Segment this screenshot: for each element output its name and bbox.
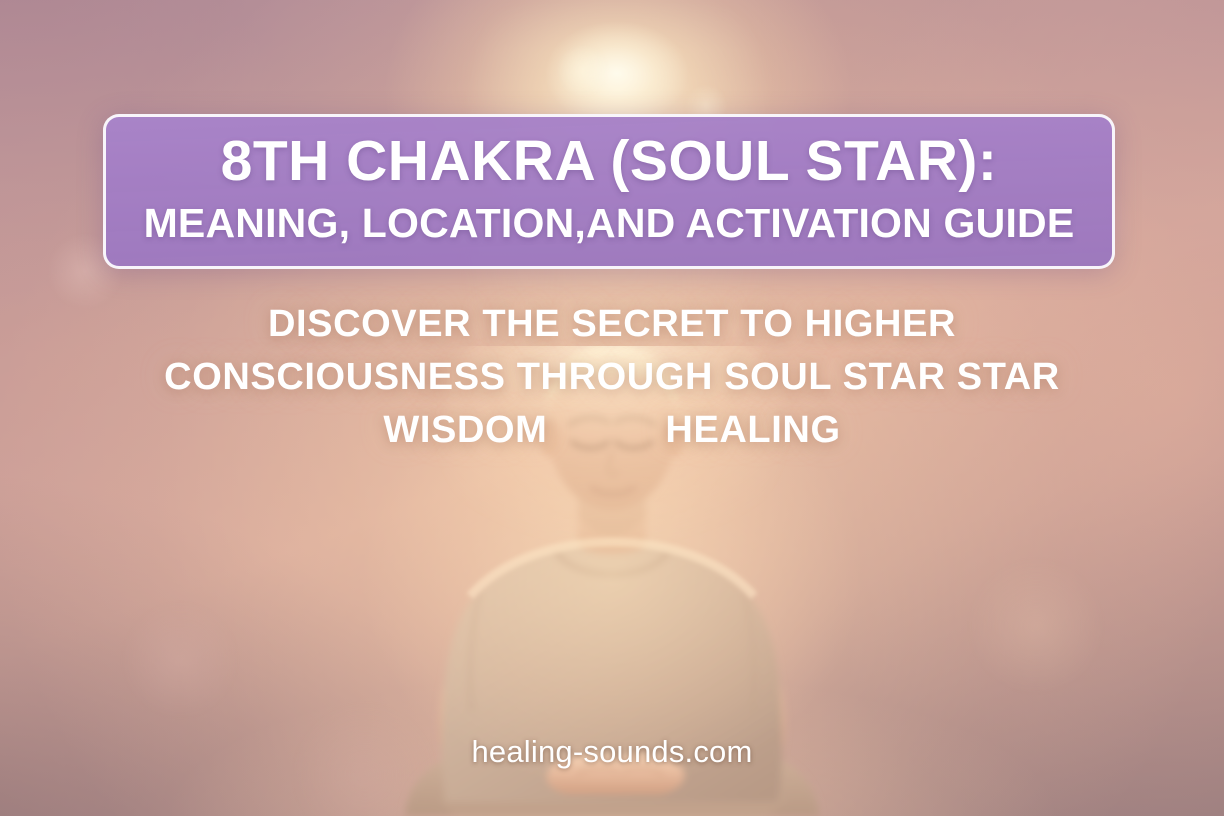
- bokeh-orb: [556, 44, 610, 98]
- bokeh-orb: [966, 556, 1106, 696]
- hair-highlight: [548, 358, 676, 410]
- left-eyebrow: [570, 418, 608, 424]
- right-eyebrow: [616, 418, 654, 424]
- mouth: [592, 488, 634, 494]
- neck: [578, 482, 646, 554]
- subtitle-line-1: DISCOVER THE SECRET TO HIGHER: [0, 298, 1224, 351]
- head-light-wrap: [444, 346, 780, 574]
- site-watermark: healing-sounds.com: [0, 734, 1224, 770]
- hair: [548, 346, 676, 408]
- left-sleeve-seam: [470, 592, 480, 712]
- head: [548, 350, 676, 510]
- right-eye-closed: [616, 442, 652, 448]
- left-ear: [539, 419, 561, 457]
- page-title-line-2: MEANING, LOCATION,AND ACTIVATION GUIDE: [144, 203, 1075, 244]
- subtitle-line-3-before-gap: WISDOM: [383, 409, 547, 451]
- nose: [608, 450, 618, 475]
- page-title-line-1: 8TH CHAKRA (SOUL STAR):: [221, 133, 998, 190]
- neck-shadow: [578, 486, 646, 536]
- subtitle-line-3: WISDOMHEALING: [0, 404, 1224, 457]
- bokeh-orb: [120, 600, 240, 720]
- right-sleeve-seam: [744, 592, 754, 712]
- subtitle-block: DISCOVER THE SECRET TO HIGHER CONSCIOUSN…: [0, 298, 1224, 456]
- subtitle-line-3-after-gap: HEALING: [665, 409, 840, 451]
- poster-canvas: 8TH CHAKRA (SOUL STAR): MEANING, LOCATIO…: [0, 0, 1224, 816]
- left-eye-closed: [572, 442, 608, 448]
- shirt-neckline: [556, 552, 668, 575]
- title-banner: 8TH CHAKRA (SOUL STAR): MEANING, LOCATIO…: [103, 114, 1115, 269]
- shoulder-rim-light: [470, 542, 754, 596]
- right-ear: [663, 419, 685, 457]
- subtitle-line-2: CONSCIOUSNESS THROUGH SOUL STAR STAR: [0, 351, 1224, 404]
